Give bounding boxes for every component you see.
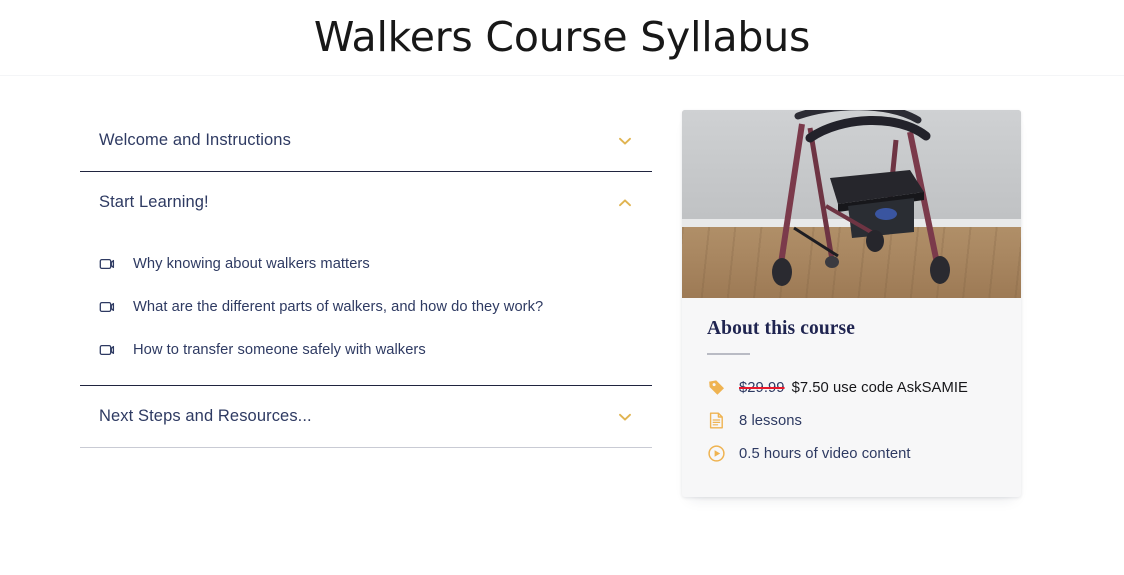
page-title: Walkers Course Syllabus bbox=[314, 17, 810, 58]
discounted-price: $7.50 use code AskSAMIE bbox=[792, 380, 968, 396]
chevron-down-icon[interactable] bbox=[616, 132, 634, 150]
video-camera-icon bbox=[99, 341, 117, 359]
card-heading-rule bbox=[707, 353, 750, 355]
about-this-course-card: About this course $29.99$7.50 use code A… bbox=[682, 110, 1021, 497]
list-item[interactable]: What are the different parts of walkers,… bbox=[80, 285, 652, 328]
page-header: Walkers Course Syllabus bbox=[0, 0, 1124, 76]
meta-row-lessons: 8 lessons bbox=[707, 404, 996, 437]
price-tag-icon bbox=[707, 378, 726, 397]
lesson-label: What are the different parts of walkers,… bbox=[133, 299, 543, 315]
play-circle-icon bbox=[707, 444, 726, 463]
accordion-section-next-steps: Next Steps and Resources... bbox=[80, 386, 652, 448]
lesson-label: How to transfer someone safely with walk… bbox=[133, 342, 426, 358]
list-item[interactable]: Why knowing about walkers matters bbox=[80, 242, 652, 285]
chevron-up-icon[interactable] bbox=[616, 194, 634, 212]
accordion-title: Next Steps and Resources... bbox=[99, 407, 312, 426]
section-divider bbox=[80, 447, 652, 448]
chevron-down-icon[interactable] bbox=[616, 408, 634, 426]
video-camera-icon bbox=[99, 255, 117, 273]
syllabus-accordion: Welcome and Instructions Start Learning! bbox=[80, 110, 652, 448]
lesson-label: Why knowing about walkers matters bbox=[133, 256, 370, 272]
accordion-section-start-learning: Start Learning! Why knowing about bbox=[80, 172, 652, 386]
card-heading: About this course bbox=[707, 318, 996, 340]
page-body: Welcome and Instructions Start Learning! bbox=[0, 76, 1124, 575]
accordion-title: Start Learning! bbox=[99, 193, 209, 212]
accordion-header-next-steps[interactable]: Next Steps and Resources... bbox=[80, 386, 652, 447]
accordion-header-start-learning[interactable]: Start Learning! bbox=[80, 172, 652, 233]
video-duration: 0.5 hours of video content bbox=[739, 446, 911, 462]
list-item[interactable]: How to transfer someone safely with walk… bbox=[80, 328, 652, 371]
course-thumbnail-image bbox=[682, 110, 1021, 298]
rollator-walker-illustration bbox=[682, 110, 1021, 298]
document-icon bbox=[707, 411, 726, 430]
accordion-section-welcome: Welcome and Instructions bbox=[80, 110, 652, 172]
lessons-count: 8 lessons bbox=[739, 413, 802, 429]
video-camera-icon bbox=[99, 298, 117, 316]
price-text: $29.99$7.50 use code AskSAMIE bbox=[739, 380, 968, 396]
accordion-header-welcome[interactable]: Welcome and Instructions bbox=[80, 110, 652, 171]
lesson-list: Why knowing about walkers matters What a… bbox=[80, 233, 652, 385]
accordion-title: Welcome and Instructions bbox=[99, 131, 291, 150]
original-price: $29.99 bbox=[739, 380, 785, 396]
card-content: About this course $29.99$7.50 use code A… bbox=[682, 298, 1021, 497]
meta-row-duration: 0.5 hours of video content bbox=[707, 437, 996, 470]
meta-row-price: $29.99$7.50 use code AskSAMIE bbox=[707, 371, 996, 404]
